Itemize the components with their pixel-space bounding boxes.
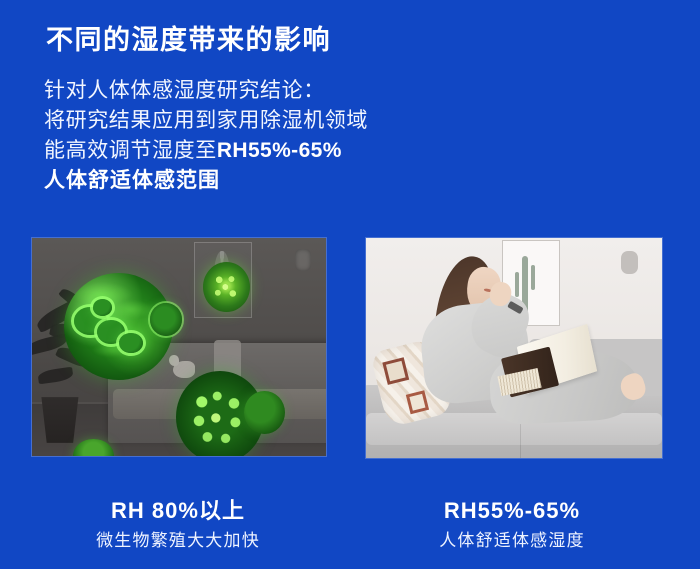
body-copy-line-3: 能高效调节湿度至RH55%-65% <box>44 136 524 166</box>
microbe-blob-small-edge <box>150 303 182 336</box>
caption-title: RH55%-65% <box>362 497 662 525</box>
dim-sofa-ornament <box>173 361 195 378</box>
body-copy-line-4: 人体舒适体感范围 <box>44 166 524 196</box>
humidity-infographic-poster: 不同的湿度带来的影响 针对人体体感湿度研究结论： 将研究结果应用到家用除湿机领域… <box>0 0 700 569</box>
microbe-blob-right <box>244 391 285 435</box>
photo-comfort-humidity <box>366 238 662 458</box>
wall-speaker-icon <box>621 251 638 274</box>
bright-living-room-scene <box>366 238 662 458</box>
microbe-cell <box>93 299 113 316</box>
wall-thermostat-icon <box>295 249 311 271</box>
microbe-cell <box>119 333 143 353</box>
cactus-arm <box>523 270 527 301</box>
photo-high-humidity <box>32 238 326 456</box>
caption-high-humidity: RH 80%以上 微生物繁殖大大加快 <box>28 497 328 553</box>
dim-living-room-scene <box>32 238 326 456</box>
caption-comfort-humidity: RH55%-65% 人体舒适体感湿度 <box>362 497 662 553</box>
microbe-blob-medium <box>203 262 250 312</box>
body-copy-line-3-prefix: 能高效调节湿度至 <box>44 139 217 162</box>
body-copy-line-2: 将研究结果应用到家用除湿机领域 <box>44 106 524 136</box>
caption-subtitle: 微生物繁殖大大加快 <box>28 529 328 553</box>
caption-title: RH 80%以上 <box>28 497 328 525</box>
humidity-range-emphasis: RH55%-65% <box>217 139 342 162</box>
page-title: 不同的湿度带来的影响 <box>46 18 331 57</box>
plant-leaf <box>37 366 74 384</box>
caption-subtitle: 人体舒适体感湿度 <box>362 529 662 553</box>
body-copy-block: 针对人体体感湿度研究结论： 将研究结果应用到家用除湿机领域 能高效调节湿度至RH… <box>44 76 524 196</box>
body-copy-line-1: 针对人体体感湿度研究结论： <box>44 76 524 106</box>
